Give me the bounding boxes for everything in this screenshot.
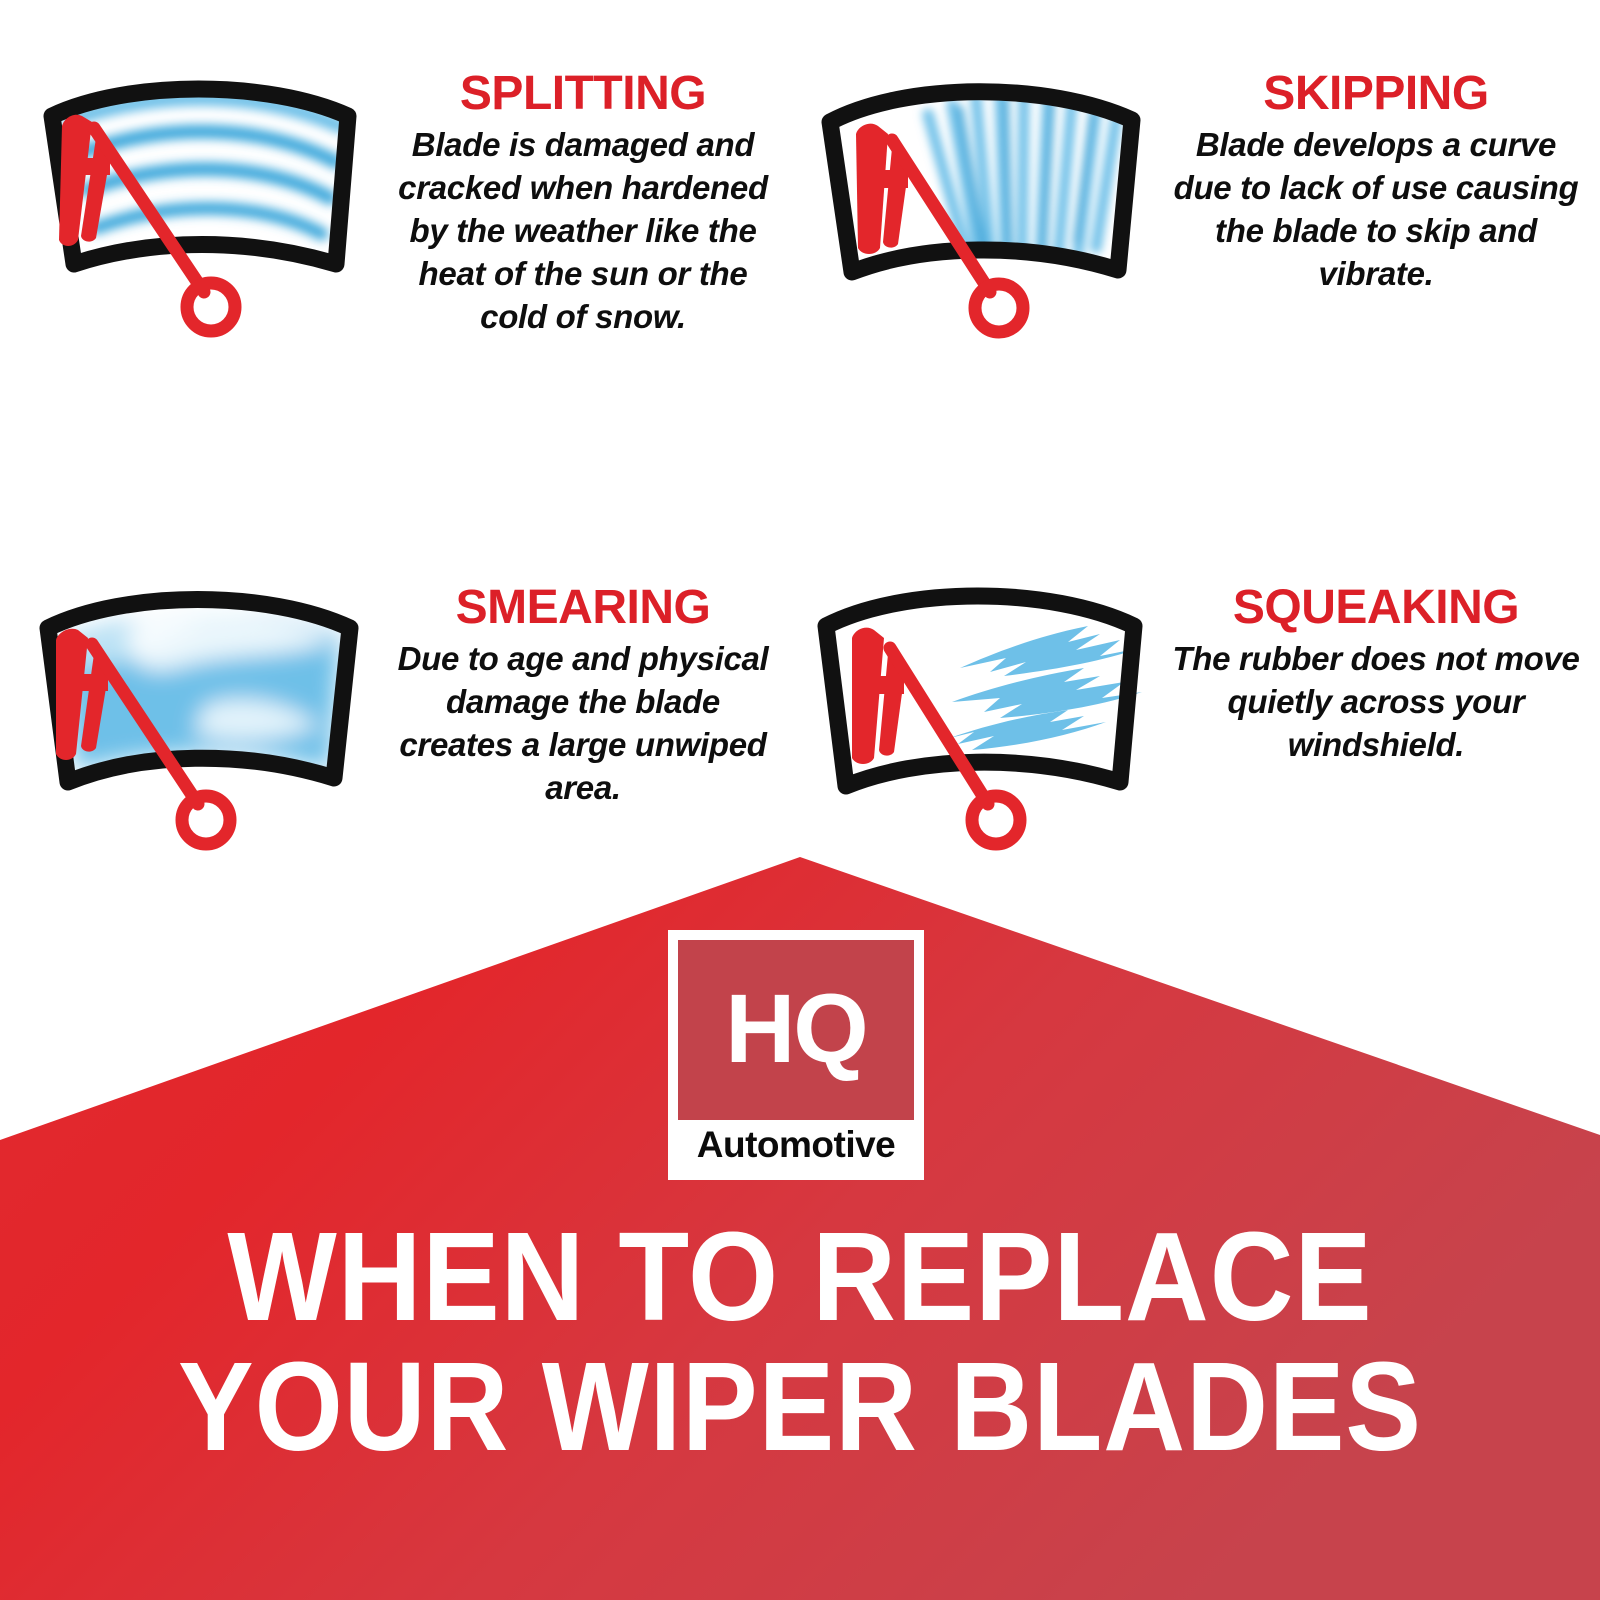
wiper-splitting-graphic [18,42,388,342]
windshield-wiper-smearing-icon [18,556,388,856]
headline-line-1: WHEN TO REPLACE [64,1212,1536,1342]
feature-card-splitting: SPLITTING Blade is damaged and cracked w… [18,42,778,342]
page-title: WHEN TO REPLACE YOUR WIPER BLADES [0,1212,1600,1472]
card-text-skipping: SKIPPING Blade develops a curve due to l… [1170,42,1582,296]
feature-card-smearing: SMEARING Due to age and physical damage … [18,556,778,856]
logo-mark-text: HQ [725,980,867,1081]
windshield-wiper-squeaking-icon [800,556,1170,856]
wiper-squeaking-graphic [800,556,1170,856]
card-title-squeaking: SQUEAKING [1170,584,1582,632]
feature-card-squeaking: SQUEAKING The rubber does not move quiet… [800,556,1582,856]
card-text-squeaking: SQUEAKING The rubber does not move quiet… [1170,556,1582,767]
logo-wordmark-text: Automotive [668,1126,924,1163]
card-title-splitting: SPLITTING [388,70,778,118]
wiper-smearing-graphic [18,556,388,856]
logo-plate: HQ [678,940,914,1120]
feature-card-skipping: SKIPPING Blade develops a curve due to l… [800,42,1582,342]
card-body-splitting: Blade is damaged and cracked when harden… [388,124,778,338]
wiper-skipping-graphic [800,42,1170,342]
infographic-canvas: HQ Automotive WHEN TO REPLACE YOUR WIPER… [0,0,1600,1600]
headline-line-2: YOUR WIPER BLADES [80,1342,1520,1472]
card-text-smearing: SMEARING Due to age and physical damage … [388,556,778,810]
windshield-wiper-skipping-icon [800,42,1170,342]
hq-automotive-logo: HQ Automotive [668,930,924,1180]
card-body-smearing: Due to age and physical damage the blade… [388,638,778,810]
windshield-wiper-splitting-icon [18,42,388,342]
card-body-squeaking: The rubber does not move quietly across … [1170,638,1582,767]
card-title-skipping: SKIPPING [1170,70,1582,118]
card-body-skipping: Blade develops a curve due to lack of us… [1170,124,1582,296]
card-title-smearing: SMEARING [388,584,778,632]
card-text-splitting: SPLITTING Blade is damaged and cracked w… [388,42,778,338]
